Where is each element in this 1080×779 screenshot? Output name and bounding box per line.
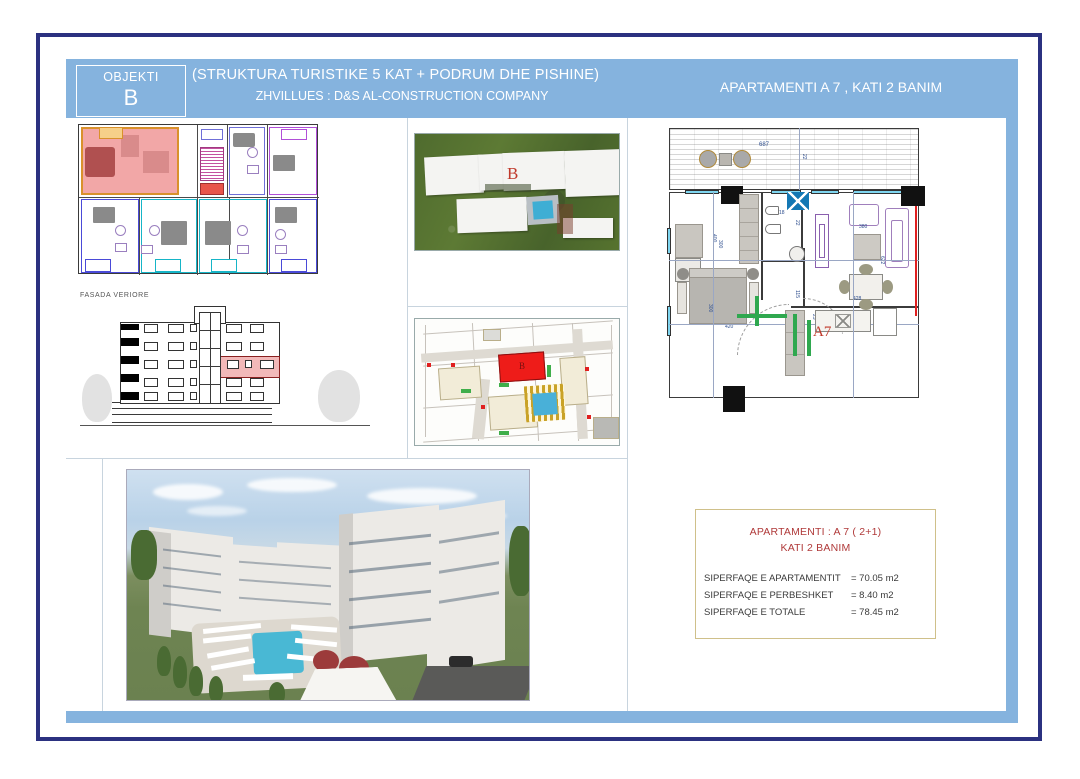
column-2 (901, 186, 925, 206)
apartment-info-box: APARTAMENTI : A 7 ( 2+1) KATI 2 BANIM SI… (695, 509, 936, 639)
door-leaf-2 (737, 314, 787, 318)
cooktop (835, 314, 851, 328)
info-label-common-area: SIPERFAQE E PERBESHKET (704, 587, 833, 604)
info-row-total-area: SIPERFAQE E TOTALE = 78.45 m2 (704, 604, 927, 621)
apartment-a7-plan: 687 22 (663, 128, 973, 428)
architectural-sheet-page: OBJEKTI B (STRUKTURA TURISTIKE 5 KAT + P… (0, 0, 1080, 779)
info-value-common-area: = 8.40 m2 (851, 587, 927, 604)
window-left-1 (667, 228, 671, 254)
dimension-115: 115 (794, 290, 800, 298)
site-plan: B (415, 319, 619, 445)
info-value-apartment-area: = 70.05 m2 (851, 570, 927, 587)
wc-fixture-2 (765, 224, 781, 234)
objekti-box: OBJEKTI B (76, 65, 186, 117)
dimension-18: 18 (779, 210, 785, 216)
panel-apartment-plan: 687 22 (627, 118, 1006, 458)
panel-info: APARTAMENTI : A 7 ( 2+1) KATI 2 BANIM SI… (627, 459, 1006, 711)
info-rows: SIPERFAQE E APARTAMENTIT = 70.05 m2 SIPE… (696, 570, 935, 621)
dimension-687: 687 (759, 142, 769, 148)
objekti-value: B (77, 85, 185, 111)
facade-label: FASADA VERIORE (80, 292, 149, 299)
sheet-inner-blue-band: OBJEKTI B (STRUKTURA TURISTIKE 5 KAT + P… (66, 59, 1018, 723)
door-leaf-4 (807, 320, 811, 356)
site-building-b-marker: B (519, 361, 525, 371)
panel-site-plan: B (407, 306, 627, 458)
panel-aerial-photo: B (407, 118, 627, 306)
dimension-420: 420 (725, 324, 733, 330)
info-title-line1: APARTAMENTI : A 7 ( 2+1) (696, 524, 935, 540)
boundary-line-red (915, 206, 917, 316)
info-title-line2: KATI 2 BANIM (696, 540, 935, 556)
panel-3d-render (102, 459, 627, 711)
exterior-3d-render (127, 470, 529, 700)
dimension-22: 22 (794, 220, 800, 226)
unit-label-a7: A7 (813, 324, 831, 341)
tree-right-icon (318, 370, 360, 422)
info-row-common-area: SIPERFAQE E PERBESHKET = 8.40 m2 (704, 587, 927, 604)
developer-line: ZHVILLUES : D&S AL-CONSTRUCTION COMPANY (192, 89, 612, 103)
north-facade-elevation (80, 304, 370, 434)
objekti-label: OBJEKTI (77, 70, 185, 85)
aerial-building-marker: B (507, 164, 518, 184)
panel-building-plan-and-facade: FASADA VERIORE (66, 118, 407, 458)
project-title: (STRUKTURA TURISTIKE 5 KAT + PODRUM DHE … (192, 67, 612, 83)
apartment-header-label: APARTAMENTI A 7 , KATI 2 BANIM (666, 79, 996, 95)
window-living-1 (811, 190, 839, 194)
dimension-terrace-depth: 22 (801, 154, 807, 160)
door-leaf-3 (793, 314, 797, 356)
tree-left-icon (82, 374, 112, 422)
coffee-table (853, 234, 881, 260)
building-floor-plan (78, 124, 318, 274)
wardrobe (675, 224, 703, 258)
door-leaf-1 (755, 296, 759, 326)
dimension-380: 380 (859, 224, 867, 230)
info-row-apartment-area: SIPERFAQE E APARTAMENTIT = 70.05 m2 (704, 570, 927, 587)
sheet-content-area: OBJEKTI B (STRUKTURA TURISTIKE 5 KAT + P… (66, 59, 1006, 711)
wc-fixture-1 (765, 206, 779, 215)
sheet-header: OBJEKTI B (STRUKTURA TURISTIKE 5 KAT + P… (66, 59, 1006, 118)
dimension-300: 300 (717, 240, 723, 248)
kitchen-cabinets (739, 194, 759, 264)
fridge (873, 308, 897, 336)
window-bedroom (685, 190, 719, 194)
window-left-2 (667, 306, 671, 336)
dimension-428: 428 (853, 296, 861, 302)
column-3 (723, 386, 745, 412)
info-label-apartment-area: SIPERFAQE E APARTAMENTIT (704, 570, 841, 587)
info-label-total-area: SIPERFAQE E TOTALE (704, 604, 805, 621)
info-value-total-area: = 78.45 m2 (851, 604, 927, 621)
aerial-photo: B (415, 134, 619, 250)
sheet-outer-frame: OBJEKTI B (STRUKTURA TURISTIKE 5 KAT + P… (36, 33, 1042, 741)
